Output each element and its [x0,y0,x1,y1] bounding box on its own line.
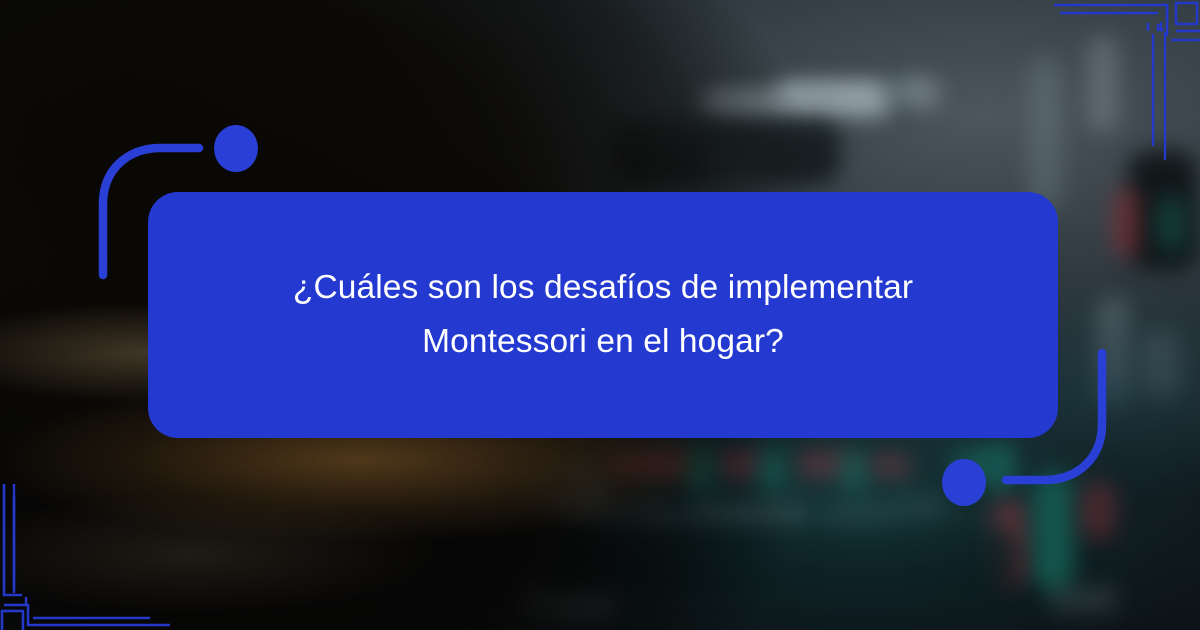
corner-bracket-bottom-right [995,345,1110,490]
circuit-trace-top-right [1040,0,1200,175]
accent-dot-bottom-right [942,459,986,506]
quote-card: ¿Cuáles son los desafíos de implementar … [148,192,1058,438]
accent-dot-top-left [214,125,258,172]
circuit-trace-bottom-left [0,455,170,630]
social-card-canvas: ¿Cuáles son los desafíos de implementar … [0,0,1200,630]
quote-text: ¿Cuáles son los desafíos de implementar … [253,261,953,370]
